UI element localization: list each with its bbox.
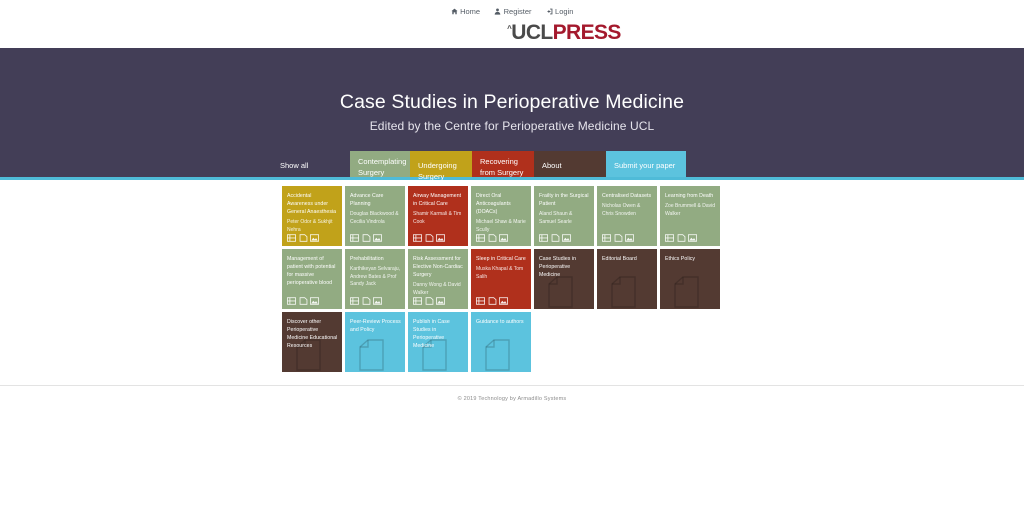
card-item[interactable]: Advance Care PlanningDouglas Blackwood &…: [345, 186, 405, 246]
card-title: Risk Assessment for Elective Non-Cardiac…: [413, 255, 464, 279]
document-icon[interactable]: [551, 234, 560, 242]
card-media-icons: [476, 297, 508, 305]
card-title: Peer-Review Process and Policy: [350, 318, 401, 334]
image-icon[interactable]: [499, 234, 508, 242]
image-icon[interactable]: [436, 297, 445, 305]
login-icon: [546, 8, 553, 15]
user-icon: [494, 8, 501, 15]
card-title: Publish in Case Studies in Perioperative…: [413, 318, 464, 350]
document-icon[interactable]: [677, 234, 686, 242]
utility-bar: Home Register Login: [0, 0, 1024, 22]
main-content: Accidental Awareness under General Anaes…: [0, 180, 1024, 402]
video-icon[interactable]: [287, 297, 296, 305]
image-icon[interactable]: [310, 297, 319, 305]
image-icon[interactable]: [688, 234, 697, 242]
page-corner-icon: [485, 339, 515, 371]
card-item[interactable]: Ethics Policy: [660, 249, 720, 309]
card-media-icons: [350, 234, 382, 242]
page-corner-icon: [359, 339, 389, 371]
video-icon[interactable]: [476, 297, 485, 305]
card-grid: Accidental Awareness under General Anaes…: [282, 186, 724, 372]
brand-bar: ^UCLPRESS: [0, 22, 1024, 48]
page-corner-icon: [548, 276, 578, 308]
nav-tab-undergoing-surgery[interactable]: Undergoing Surgery: [410, 151, 472, 177]
document-icon[interactable]: [362, 297, 371, 305]
card-item[interactable]: Risk Assessment for Elective Non-Cardiac…: [408, 249, 468, 309]
card-authors: Douglas Blackwood & Cecilia Vindrola: [350, 211, 401, 226]
header-link-login[interactable]: Login: [546, 7, 574, 16]
card-title: Centralised Datasets: [602, 192, 653, 200]
nav-tab-about[interactable]: About: [534, 151, 606, 177]
card-authors: Nicholas Owen & Chris Snowden: [602, 203, 653, 218]
card-title: Learning from Death: [665, 192, 716, 200]
header-link-register-label: Register: [504, 7, 532, 16]
video-icon[interactable]: [350, 234, 359, 242]
document-icon[interactable]: [425, 234, 434, 242]
card-authors: Zoe Brummell & David Walker: [665, 203, 716, 218]
footer: © 2019 Technology by Armadillo Systems: [0, 385, 1024, 402]
card-media-icons: [413, 297, 445, 305]
card-item[interactable]: PrehabilitationKarthikeyan Selvaraju, An…: [345, 249, 405, 309]
card-title: Direct Oral Anticoagulants (DOACs): [476, 192, 527, 216]
card-item[interactable]: Editorial Board: [597, 249, 657, 309]
card-title: Discover other Perioperative Medicine Ed…: [287, 318, 338, 350]
home-icon: [451, 8, 458, 15]
document-icon[interactable]: [488, 297, 497, 305]
card-authors: Michael Shaw & Marie Scully: [476, 219, 527, 234]
card-media-icons: [476, 234, 508, 242]
card-media-icons: [539, 234, 571, 242]
header-link-register[interactable]: Register: [494, 7, 531, 16]
footer-copyright: © 2019 Technology by Armadillo Systems: [0, 396, 1024, 402]
card-authors: Shamir Karmali & Tim Cook: [413, 211, 464, 226]
card-media-icons: [413, 234, 445, 242]
card-item[interactable]: Sleep in Critical CareMuska Khapal & Tom…: [471, 249, 531, 309]
header-link-home-label: Home: [460, 7, 480, 16]
ucl-press-logo[interactable]: ^UCLPRESS: [507, 22, 621, 43]
video-icon[interactable]: [602, 234, 611, 242]
card-title: Case Studies in Perioperative Medicine: [539, 255, 590, 279]
image-icon[interactable]: [310, 234, 319, 242]
document-icon[interactable]: [488, 234, 497, 242]
video-icon[interactable]: [665, 234, 674, 242]
nav-tab-show-all[interactable]: Show all: [272, 151, 350, 177]
card-item[interactable]: Discover other Perioperative Medicine Ed…: [282, 312, 342, 372]
card-authors: Karthikeyan Selvaraju, Andrew Bates & Pr…: [350, 266, 401, 289]
image-icon[interactable]: [625, 234, 634, 242]
header-link-login-label: Login: [555, 7, 573, 16]
video-icon[interactable]: [413, 297, 422, 305]
card-item[interactable]: Guidance to authors: [471, 312, 531, 372]
document-icon[interactable]: [425, 297, 434, 305]
card-title: Guidance to authors: [476, 318, 527, 326]
card-authors: Danny Wong & David Walker: [413, 282, 464, 297]
card-media-icons: [287, 297, 319, 305]
card-item[interactable]: Case Studies in Perioperative Medicine: [534, 249, 594, 309]
video-icon[interactable]: [287, 234, 296, 242]
card-title: Sleep in Critical Care: [476, 255, 527, 263]
video-icon[interactable]: [350, 297, 359, 305]
video-icon[interactable]: [413, 234, 422, 242]
page-corner-icon: [611, 276, 641, 308]
hero-banner: Case Studies in Perioperative Medicine E…: [0, 48, 1024, 151]
card-title: Editorial Board: [602, 255, 653, 263]
card-item[interactable]: Management of patient with potential for…: [282, 249, 342, 309]
card-item[interactable]: Accidental Awareness under General Anaes…: [282, 186, 342, 246]
header-link-home[interactable]: Home: [451, 7, 481, 16]
document-icon[interactable]: [299, 234, 308, 242]
nav-tab-contemplating-surgery[interactable]: Contemplating Surgery: [350, 151, 410, 177]
document-icon[interactable]: [614, 234, 623, 242]
logo-ucl: UCL: [511, 21, 552, 44]
card-item[interactable]: Peer-Review Process and Policy: [345, 312, 405, 372]
card-title: Management of patient with potential for…: [287, 255, 338, 287]
page-subtitle: Edited by the Centre for Perioperative M…: [0, 119, 1024, 133]
video-icon[interactable]: [476, 234, 485, 242]
page-corner-icon: [674, 276, 704, 308]
card-title: Prehabilitation: [350, 255, 401, 263]
card-media-icons: [350, 297, 382, 305]
card-item[interactable]: Airway Management in Critical CareShamir…: [408, 186, 468, 246]
card-item[interactable]: Centralised DatasetsNicholas Owen & Chri…: [597, 186, 657, 246]
card-title: Ethics Policy: [665, 255, 716, 263]
card-media-icons: [665, 234, 697, 242]
card-media-icons: [602, 234, 634, 242]
card-authors: Aland Shaun & Samuel Searle: [539, 211, 590, 226]
card-title: Accidental Awareness under General Anaes…: [287, 192, 338, 216]
image-icon[interactable]: [436, 234, 445, 242]
card-title: Advance Care Planning: [350, 192, 401, 208]
card-authors: Muska Khapal & Tom Salih: [476, 266, 527, 281]
card-item[interactable]: Learning from DeathZoe Brummell & David …: [660, 186, 720, 246]
card-title: Frailty in the Surgical Patient: [539, 192, 590, 208]
image-icon[interactable]: [373, 297, 382, 305]
image-icon[interactable]: [562, 234, 571, 242]
card-item[interactable]: Frailty in the Surgical PatientAland Sha…: [534, 186, 594, 246]
card-item[interactable]: Direct Oral Anticoagulants (DOACs)Michae…: [471, 186, 531, 246]
card-title: Airway Management in Critical Care: [413, 192, 464, 208]
card-item[interactable]: Publish in Case Studies in Perioperative…: [408, 312, 468, 372]
video-icon[interactable]: [539, 234, 548, 242]
image-icon[interactable]: [373, 234, 382, 242]
image-icon[interactable]: [499, 297, 508, 305]
nav-tab-recovering-from-surgery[interactable]: Recovering from Surgery: [472, 151, 534, 177]
document-icon[interactable]: [362, 234, 371, 242]
card-authors: Peter Odor & Sukhjit Nehra: [287, 219, 338, 234]
category-nav: Show all Contemplating Surgery Undergoin…: [0, 151, 1024, 180]
page-title: Case Studies in Perioperative Medicine: [0, 90, 1024, 114]
logo-press: PRESS: [553, 21, 621, 44]
card-media-icons: [287, 234, 319, 242]
nav-tab-submit-your-paper[interactable]: Submit your paper: [606, 151, 686, 177]
document-icon[interactable]: [299, 297, 308, 305]
